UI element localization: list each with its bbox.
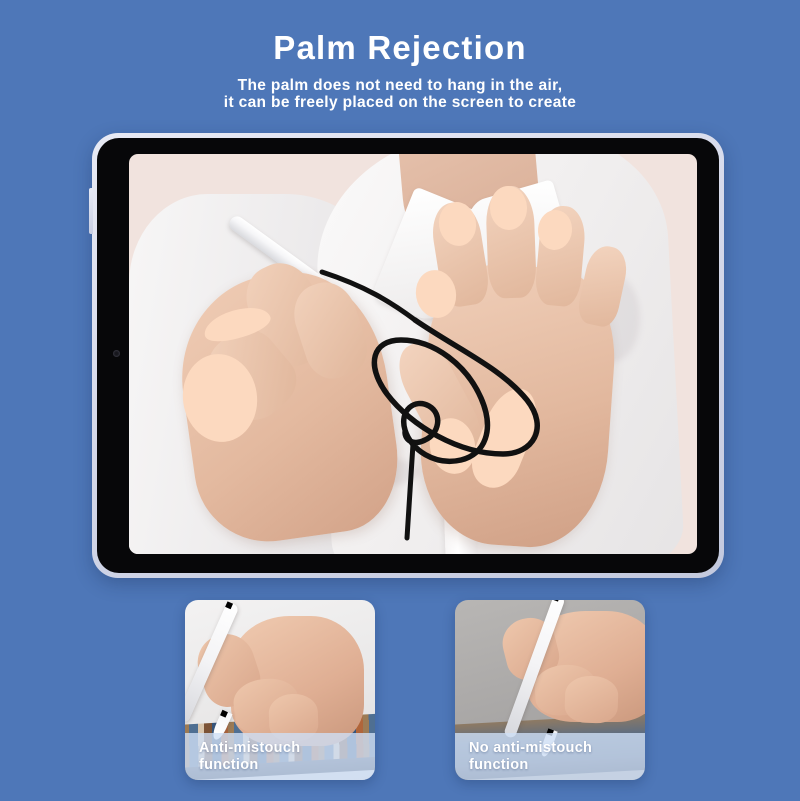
- subtitle-line-2: it can be freely placed on the screen to…: [0, 94, 800, 112]
- page-subtitle: The palm does not need to hang in the ai…: [0, 66, 800, 112]
- header: Palm Rejection The palm does not need to…: [0, 0, 800, 112]
- card-photo: Anti-mistouch function: [185, 600, 375, 780]
- tablet-bezel: [97, 138, 719, 573]
- tablet-device: [92, 133, 724, 578]
- caption-text: Anti-mistouch function: [185, 740, 300, 772]
- power-button-icon[interactable]: [89, 188, 93, 234]
- comparison-card-anti-mistouch[interactable]: Anti-mistouch function: [185, 600, 375, 780]
- subtitle-line-1: The palm does not need to hang in the ai…: [0, 77, 800, 95]
- hero-photo: [129, 154, 697, 554]
- card-caption: No anti-mistouch function: [455, 733, 645, 780]
- page-title: Palm Rejection: [0, 0, 800, 66]
- product-feature-banner: Palm Rejection The palm does not need to…: [0, 0, 800, 801]
- comparison-card-no-anti-mistouch[interactable]: No anti-mistouch function: [455, 600, 645, 780]
- caption-text: No anti-mistouch function: [455, 740, 592, 772]
- card-photo: No anti-mistouch function: [455, 600, 645, 780]
- curled-fingers: [564, 675, 619, 724]
- camera-icon: [113, 350, 120, 357]
- card-caption: Anti-mistouch function: [185, 733, 375, 780]
- tablet-screen[interactable]: [129, 154, 697, 554]
